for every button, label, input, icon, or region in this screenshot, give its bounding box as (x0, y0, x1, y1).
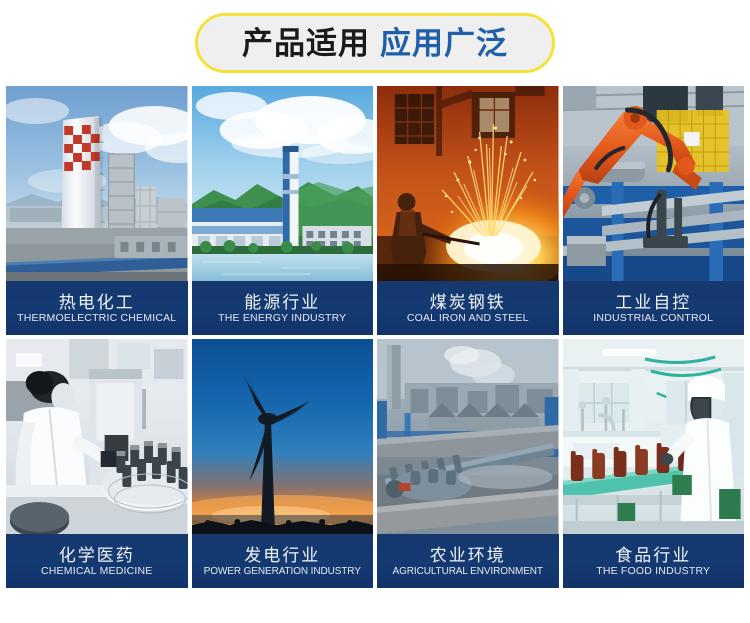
card-title-cn: 能源行业 (244, 294, 320, 312)
card-title-cn: 热电化工 (59, 294, 135, 312)
card-title-en: COAL IRON AND STEEL (407, 313, 529, 324)
card-title-cn: 化学医药 (59, 547, 135, 565)
card-title-en: INDUSTRIAL CONTROL (593, 313, 713, 324)
page-title-primary: 产品适用 (242, 28, 370, 59)
card-title-en: POWER GENERATION INDUSTRY (204, 567, 361, 578)
water-treatment-pipes-photo (377, 339, 559, 534)
robotic-arm-assembly-line-photo (563, 86, 745, 281)
card-caption: 化学医药 CHEMICAL MEDICINE (6, 534, 188, 588)
wind-turbine-sunset-photo (192, 339, 374, 534)
card-title-en: THE ENERGY INDUSTRY (218, 313, 346, 324)
card-title-cn: 食品行业 (615, 547, 691, 565)
industry-card[interactable]: 农业环境 AGRICULTURAL ENVIRONMENT (377, 339, 559, 588)
industry-card[interactable]: 能源行业 THE ENERGY INDUSTRY (192, 86, 374, 335)
card-caption: 煤炭钢铁 COAL IRON AND STEEL (377, 281, 559, 335)
card-title-cn: 农业环境 (430, 547, 506, 565)
industry-card-grid: 热电化工 THERMOELECTRIC CHEMICAL (6, 86, 744, 588)
page-title-secondary: 应用广泛 (380, 28, 508, 59)
card-caption: 农业环境 AGRICULTURAL ENVIRONMENT (377, 534, 559, 588)
steel-mill-molten-sparks-photo (377, 86, 559, 281)
industry-card[interactable]: 化学医药 CHEMICAL MEDICINE (6, 339, 188, 588)
food-bottling-line-photo (563, 339, 745, 534)
chemical-plant-cooling-tower-photo (6, 86, 188, 281)
card-caption: 发电行业 POWER GENERATION INDUSTRY (192, 534, 374, 588)
industry-card[interactable]: 发电行业 POWER GENERATION INDUSTRY (192, 339, 374, 588)
card-title-cn: 工业自控 (615, 294, 691, 312)
pharmaceutical-lab-vials-photo (6, 339, 188, 534)
card-caption: 工业自控 INDUSTRIAL CONTROL (563, 281, 745, 335)
page-header: 产品适用 应用广泛 (0, 0, 750, 86)
card-title-en: THE FOOD INDUSTRY (596, 566, 710, 577)
card-title-cn: 发电行业 (244, 547, 320, 565)
industry-card[interactable]: 食品行业 THE FOOD INDUSTRY (563, 339, 745, 588)
industry-card[interactable]: 煤炭钢铁 COAL IRON AND STEEL (377, 86, 559, 335)
header-pill: 产品适用 应用广泛 (195, 13, 555, 73)
card-title-en: AGRICULTURAL ENVIRONMENT (393, 567, 543, 578)
industry-card[interactable]: 热电化工 THERMOELECTRIC CHEMICAL (6, 86, 188, 335)
industry-card[interactable]: 工业自控 INDUSTRIAL CONTROL (563, 86, 745, 335)
card-title-en: CHEMICAL MEDICINE (41, 566, 153, 577)
card-caption: 能源行业 THE ENERGY INDUSTRY (192, 281, 374, 335)
card-title-cn: 煤炭钢铁 (430, 294, 506, 312)
card-caption: 食品行业 THE FOOD INDUSTRY (563, 534, 745, 588)
energy-plant-riverside-photo (192, 86, 374, 281)
card-title-en: THERMOELECTRIC CHEMICAL (17, 313, 176, 324)
card-caption: 热电化工 THERMOELECTRIC CHEMICAL (6, 281, 188, 335)
